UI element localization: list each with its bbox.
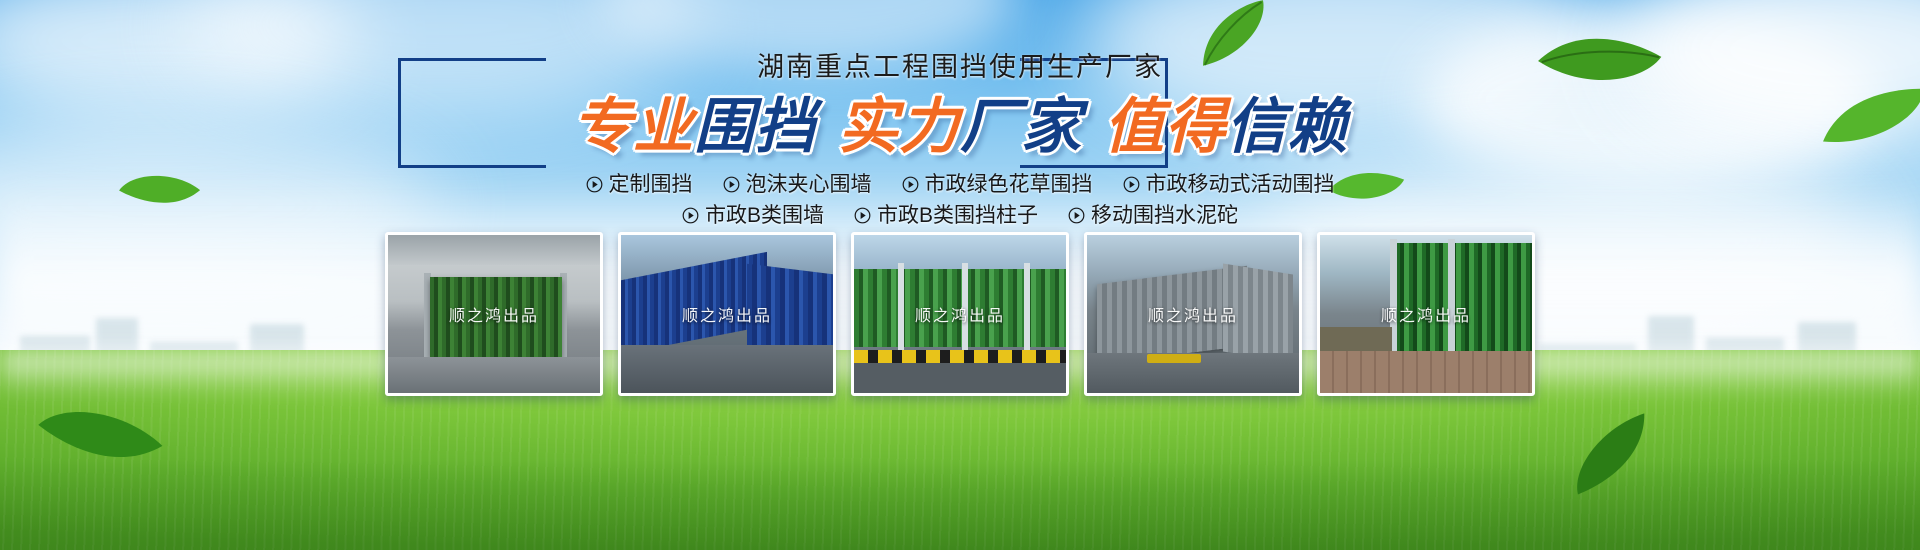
play-circle-icon — [682, 207, 699, 224]
feature-bullet-item: 市政移动式活动围挡 — [1123, 174, 1335, 195]
product-photo[interactable]: 顺之鸿出品 — [851, 232, 1069, 396]
feature-bullet-item: 市政B类围挡柱子 — [854, 205, 1038, 226]
title-segment-4: 厂家 — [960, 95, 1082, 158]
feature-bullet-list: 定制围挡 泡沫夹心围墙 市政绿色花草围挡 市政移动式活动围挡 — [0, 174, 1920, 226]
feature-bullet-label: 市政移动式活动围挡 — [1146, 174, 1335, 195]
feature-bullet-label: 移动围挡水泥砣 — [1091, 205, 1238, 226]
play-circle-icon — [1123, 176, 1140, 193]
feature-bullet-item: 市政绿色花草围挡 — [902, 174, 1093, 195]
play-circle-icon — [723, 176, 740, 193]
title-segment-1: 专业 — [572, 95, 694, 158]
play-circle-icon — [902, 176, 919, 193]
product-photo[interactable]: 顺之鸿出品 — [1084, 232, 1302, 396]
play-circle-icon — [586, 176, 603, 193]
play-circle-icon — [854, 207, 871, 224]
product-photo[interactable]: 顺之鸿出品 — [618, 232, 836, 396]
product-photo[interactable]: 顺之鸿出品 — [1317, 232, 1535, 396]
product-photo-strip: 顺之鸿出品 顺之鸿出品 顺之鸿出品 — [0, 232, 1920, 396]
feature-bullet-row: 定制围挡 泡沫夹心围墙 市政绿色花草围挡 市政移动式活动围挡 — [0, 174, 1920, 195]
photo-watermark: 顺之鸿出品 — [854, 302, 1066, 326]
banner-title: 专业 围挡 实力 厂家 值得 信赖 — [572, 95, 1348, 158]
photo-watermark: 顺之鸿出品 — [388, 302, 600, 326]
feature-bullet-item: 泡沫夹心围墙 — [723, 174, 872, 195]
promo-banner: 湖南重点工程围挡使用生产厂家 专业 围挡 实力 厂家 值得 信赖 定制围挡 泡沫… — [0, 0, 1920, 550]
feature-bullet-label: 定制围挡 — [609, 174, 693, 195]
headline-block: 湖南重点工程围挡使用生产厂家 专业 围挡 实力 厂家 值得 信赖 定制围挡 泡沫… — [0, 40, 1920, 235]
feature-bullet-label: 市政B类围挡柱子 — [877, 205, 1038, 226]
play-circle-icon — [1068, 207, 1085, 224]
feature-bullet-label: 市政绿色花草围挡 — [925, 174, 1093, 195]
title-segment-5: 值得 — [1104, 95, 1226, 158]
feature-bullet-row: 市政B类围墙 市政B类围挡柱子 移动围挡水泥砣 — [0, 205, 1920, 226]
feature-bullet-item: 定制围挡 — [586, 174, 693, 195]
product-photo[interactable]: 顺之鸿出品 — [385, 232, 603, 396]
grass-shadow — [0, 460, 1920, 550]
photo-watermark: 顺之鸿出品 — [621, 302, 833, 326]
feature-bullet-item: 市政B类围墙 — [682, 205, 824, 226]
title-segment-2: 围挡 — [694, 95, 816, 158]
photo-watermark: 顺之鸿出品 — [1087, 302, 1299, 326]
title-segment-6: 信赖 — [1226, 95, 1348, 158]
banner-subtitle: 湖南重点工程围挡使用生产厂家 — [757, 54, 1163, 81]
photo-watermark: 顺之鸿出品 — [1320, 302, 1532, 326]
feature-bullet-label: 市政B类围墙 — [705, 205, 824, 226]
feature-bullet-label: 泡沫夹心围墙 — [746, 174, 872, 195]
title-segment-3: 实力 — [838, 95, 960, 158]
feature-bullet-item: 移动围挡水泥砣 — [1068, 205, 1238, 226]
